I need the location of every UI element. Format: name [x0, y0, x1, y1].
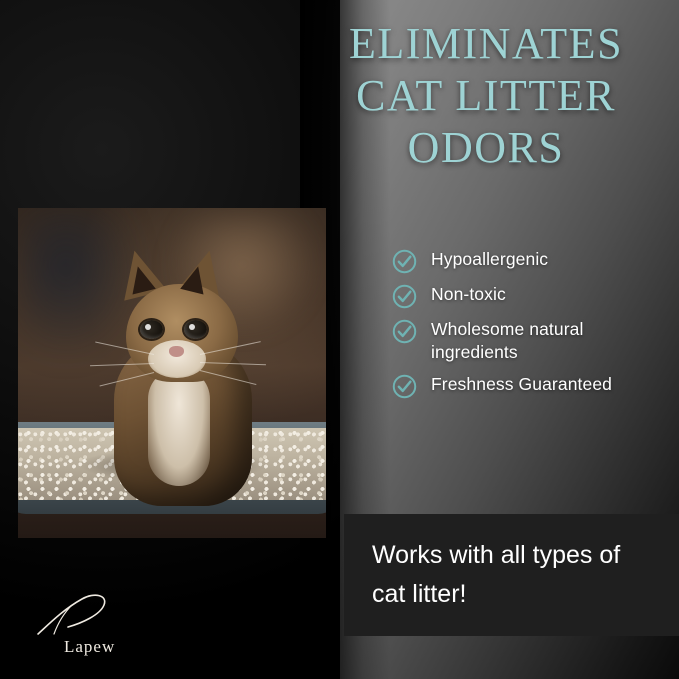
feature-item: Hypoallergenic — [392, 248, 676, 274]
banner-text: Works with all types of cat litter! — [372, 536, 658, 614]
feature-item: Non-toxic — [392, 283, 676, 309]
feature-label: Hypoallergenic — [431, 248, 548, 271]
kitten-eye-glint-left — [145, 324, 151, 330]
feature-list: Hypoallergenic Non-toxic Wholesome natur… — [392, 248, 676, 408]
check-circle-icon — [392, 284, 417, 309]
feature-item: Wholesome natural ingredients — [392, 318, 676, 364]
product-ad-image: ELIMINATES CAT LITTER ODORS — [0, 0, 679, 679]
kitten-photo — [18, 208, 326, 538]
feature-item: Freshness Guaranteed — [392, 373, 676, 399]
kitten — [96, 242, 266, 502]
kitten-chest — [148, 368, 210, 486]
brand-logo: Lapew — [28, 593, 178, 657]
kitten-eye-glint-right — [189, 324, 195, 330]
headline: ELIMINATES CAT LITTER ODORS — [300, 18, 672, 174]
headline-line-1: ELIMINATES — [300, 18, 672, 70]
brand-swoosh-icon — [34, 593, 126, 639]
kitten-nose — [169, 346, 184, 357]
kitten-eye-right — [184, 320, 207, 339]
bottom-banner: Works with all types of cat litter! — [344, 514, 679, 636]
headline-line-2: CAT LITTER — [300, 70, 672, 122]
check-circle-icon — [392, 319, 417, 344]
feature-label: Wholesome natural ingredients — [431, 318, 663, 364]
kitten-eye-left — [140, 320, 163, 339]
check-circle-icon — [392, 249, 417, 274]
check-circle-icon — [392, 374, 417, 399]
feature-label: Freshness Guaranteed — [431, 373, 612, 396]
brand-name: Lapew — [64, 637, 115, 657]
feature-label: Non-toxic — [431, 283, 506, 306]
headline-line-3: ODORS — [300, 122, 672, 174]
